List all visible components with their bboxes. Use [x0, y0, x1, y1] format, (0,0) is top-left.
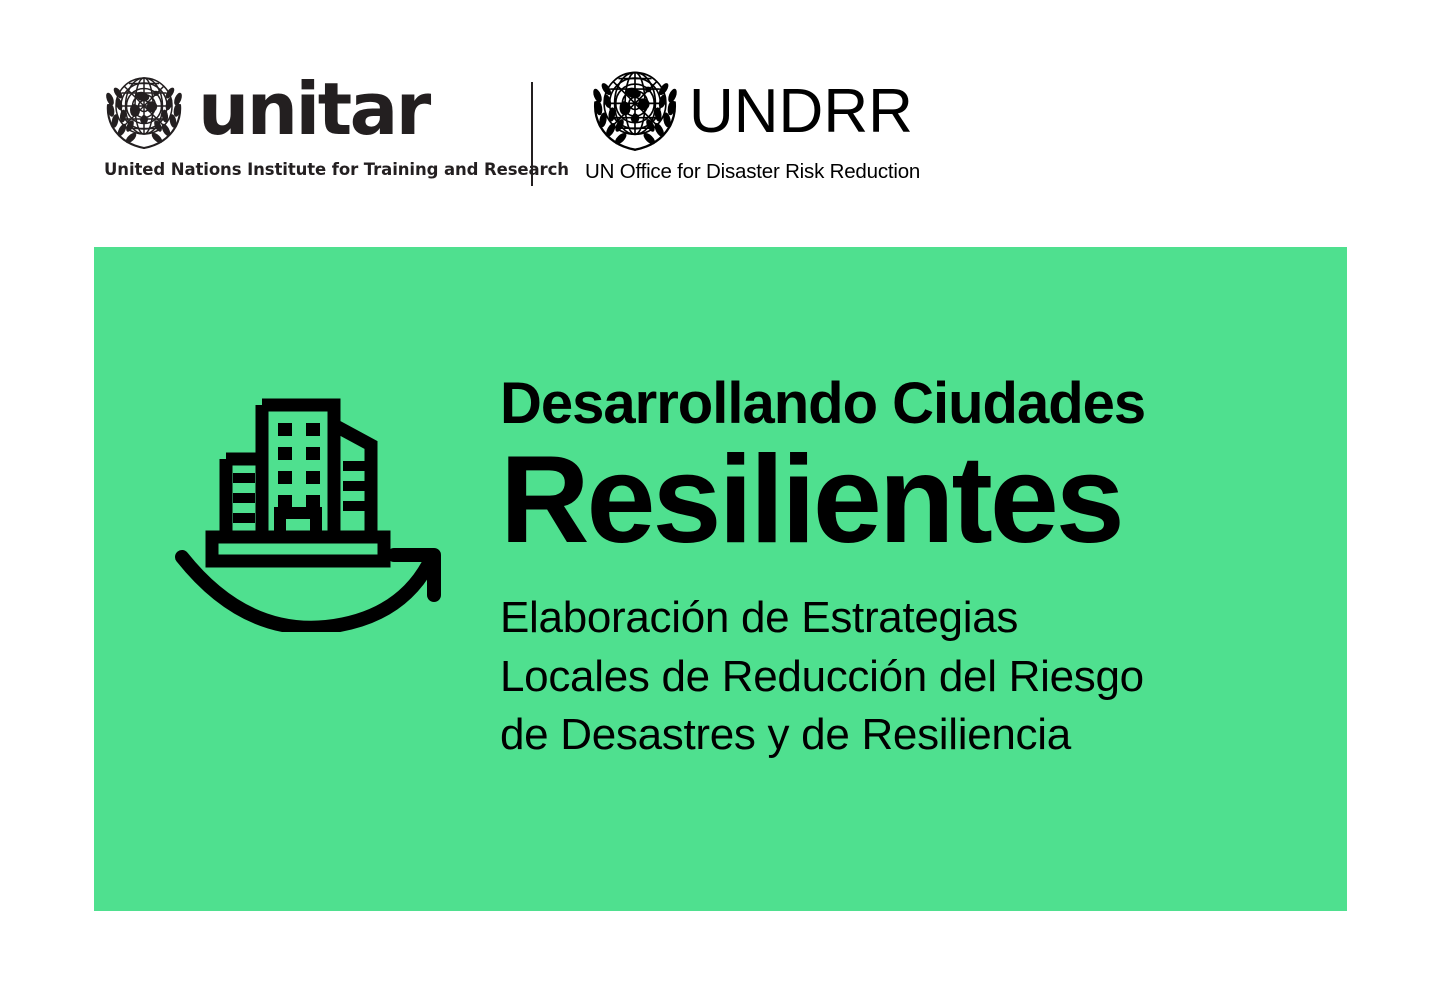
undrr-logo-row: UNDRR: [583, 70, 913, 150]
un-emblem-icon: [583, 67, 687, 153]
undrr-tagline: UN Office for Disaster Risk Reduction: [585, 160, 920, 184]
banner-title-line-2: Resilientes: [500, 437, 1320, 563]
banner-subtitle-line-3: de Desastres y de Resiliencia: [500, 706, 1320, 764]
banner-title-line-1: Desarrollando Ciudades: [500, 375, 1320, 433]
unitar-wordmark: unitar: [198, 73, 429, 145]
banner-subtitle: Elaboración de Estrategias Locales de Re…: [500, 589, 1320, 763]
unitar-logo-row: unitar: [98, 76, 429, 148]
unitar-tagline-bold: United Nations: [104, 160, 241, 179]
un-emblem-icon: [98, 73, 190, 151]
undrr-logo-lockup: UNDRR UN Office for Disaster Risk Reduct…: [583, 70, 913, 188]
unitar-tagline-rest: Institute for Training and Research: [241, 160, 568, 179]
unitar-logo-lockup: unitar United Nations Institute for Trai…: [98, 76, 498, 188]
resilient-city-icon: [166, 387, 456, 632]
banner-subtitle-line-1: Elaboración de Estrategias: [500, 589, 1320, 647]
unitar-tagline: United Nations Institute for Training an…: [104, 160, 569, 179]
banner-subtitle-line-2: Locales de Reducción del Riesgo: [500, 648, 1320, 706]
logo-divider: [531, 82, 533, 186]
banner-title-block: Desarrollando Ciudades Resilientes Elabo…: [500, 375, 1320, 764]
green-banner: Desarrollando Ciudades Resilientes Elabo…: [94, 247, 1347, 911]
undrr-wordmark: UNDRR: [689, 81, 913, 143]
logo-header-bar: unitar United Nations Institute for Trai…: [0, 0, 1440, 230]
